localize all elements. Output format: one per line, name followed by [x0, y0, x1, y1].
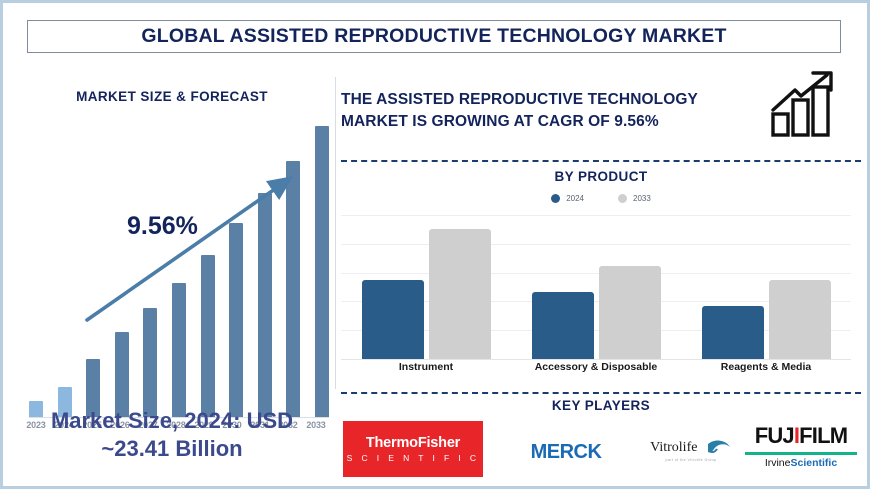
vitrolife-swoosh-icon [706, 440, 732, 456]
market-size-value: Market Size, 2024: USD ~23.41 Billion [11, 407, 333, 463]
by-product-category-label: Instrument [351, 361, 501, 373]
divider-top [341, 160, 861, 162]
market-size-line-1: Market Size, 2024: USD [11, 407, 333, 435]
divider-bottom [341, 392, 861, 394]
by-product-bar-group [702, 280, 831, 360]
by-product-bar-group [532, 266, 661, 360]
page-title-box: GLOBAL ASSISTED REPRODUCTIVE TECHNOLOGY … [27, 20, 841, 53]
thermo-fisher-name: ThermoFisher [366, 435, 460, 451]
cagr-annotation: 9.56% [127, 212, 198, 241]
market-size-forecast-heading: MARKET SIZE & FORECAST [11, 89, 333, 104]
cagr-headline: THE ASSISTED REPRODUCTIVE TECHNOLOGY MAR… [341, 89, 741, 133]
by-product-category-labels: InstrumentAccessory & DisposableReagents… [341, 361, 851, 373]
by-product-baseline [341, 359, 851, 360]
logo-thermo-fisher: ThermoFisher S C I E N T I F I C [343, 421, 483, 477]
thermo-fisher-subtitle: S C I E N T I F I C [347, 453, 480, 463]
by-product-bars [341, 215, 851, 360]
fujifilm-subtitle: IrvineScientific [741, 457, 861, 469]
by-product-bar [532, 292, 594, 360]
by-product-bar [599, 266, 661, 360]
key-players-row: ThermoFisher S C I E N T I F I C MERCK V… [341, 417, 861, 487]
growth-chart-icon [769, 70, 841, 140]
by-product-bar [429, 229, 491, 360]
legend-swatch-icon [551, 194, 560, 203]
by-product-category-label: Reagents & Media [691, 361, 841, 373]
by-product-bar [702, 306, 764, 360]
by-product-bar [362, 280, 424, 360]
by-product-bar-group [362, 229, 491, 360]
legend-item: 2024 [551, 194, 584, 203]
page-title: GLOBAL ASSISTED REPRODUCTIVE TECHNOLOGY … [141, 25, 726, 48]
by-product-chart: InstrumentAccessory & DisposableReagents… [341, 215, 851, 380]
logo-fujifilm: FUJIFILM IrvineScientific [741, 423, 861, 469]
vitrolife-subtitle: part of the Vitrolife Group [631, 458, 751, 462]
by-product-bar [769, 280, 831, 360]
right-panel: THE ASSISTED REPRODUCTIVE TECHNOLOGY MAR… [341, 65, 861, 485]
by-product-heading: BY PRODUCT [341, 169, 861, 184]
forecast-chart: 9.56% 2023202420252026202720282029203020… [29, 120, 329, 455]
infographic-root: GLOBAL ASSISTED REPRODUCTIVE TECHNOLOGY … [0, 0, 870, 489]
legend-label: 2024 [566, 194, 584, 203]
logo-merck: MERCK [511, 441, 621, 464]
by-product-category-label: Accessory & Disposable [521, 361, 671, 373]
key-players-heading: KEY PLAYERS [341, 398, 861, 413]
fujifilm-rule [745, 452, 857, 455]
by-product-legend: 20242033 [341, 194, 861, 203]
growth-arrow-icon [29, 150, 329, 350]
legend-label: 2033 [633, 194, 651, 203]
legend-swatch-icon [618, 194, 627, 203]
logo-vitrolife: Vitrolife part of the Vitrolife Group [631, 439, 751, 462]
legend-item: 2033 [618, 194, 651, 203]
vertical-divider [335, 77, 336, 389]
market-size-line-2: ~23.41 Billion [11, 435, 333, 463]
vitrolife-name: Vitrolife [650, 440, 697, 456]
fujifilm-name: FUJIFILM [741, 423, 861, 449]
